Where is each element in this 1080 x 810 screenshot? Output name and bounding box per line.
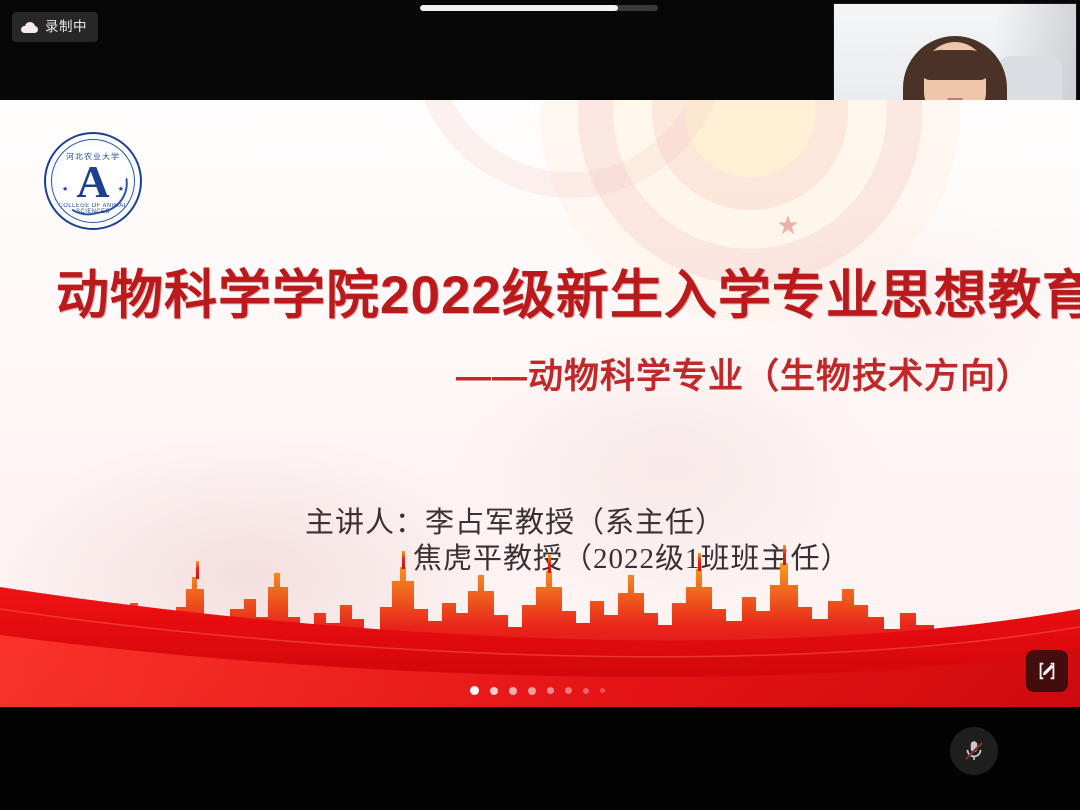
slide-title: 动物科学学院2022级新生入学专业思想教育	[56, 268, 1031, 324]
slide-dot[interactable]	[583, 688, 589, 694]
microphone-muted-icon	[961, 738, 987, 764]
cloud-icon	[21, 22, 38, 33]
star-icon: ★	[775, 212, 801, 238]
college-logo-inner: 河北农业大学 A ★ ★ COLLEGE OF ANIMAL SCIENCES	[51, 139, 135, 223]
presentation-slide[interactable]: ★ 河北农业大学 A ★ ★ COLLEGE OF ANIMAL SCIENCE…	[0, 100, 1080, 707]
meeting-bottom-bar	[0, 707, 1080, 810]
mute-toggle-button[interactable]	[950, 727, 998, 775]
person-eye-right	[977, 72, 986, 76]
screen-root: 录制中 王可	[0, 0, 1080, 810]
logo-star-right-icon: ★	[118, 186, 124, 193]
slide-footer-graphic	[0, 517, 1080, 707]
slide-dot[interactable]	[509, 687, 517, 695]
slide-dot[interactable]	[547, 687, 554, 694]
slide-dot[interactable]	[565, 687, 572, 694]
slide-dot[interactable]	[490, 687, 498, 695]
college-logo-name-en: COLLEGE OF ANIMAL SCIENCES	[54, 203, 132, 215]
annotate-button[interactable]	[1026, 650, 1068, 692]
playback-progress-fill	[420, 5, 618, 11]
slide-subtitle: ——动物科学专业（生物技术方向）	[456, 358, 1032, 397]
person-eye-left	[924, 72, 933, 76]
slide-dot[interactable]	[528, 687, 536, 695]
slide-progress-dots	[470, 686, 605, 695]
college-logo: 河北农业大学 A ★ ★ COLLEGE OF ANIMAL SCIENCES	[44, 132, 142, 230]
recording-label: 录制中	[45, 20, 87, 34]
recording-badge: 录制中	[12, 12, 98, 42]
slide-dot[interactable]	[600, 688, 605, 693]
pencil-annotate-icon	[1036, 660, 1058, 682]
college-logo-monogram: A	[76, 159, 109, 205]
red-wave-skyline	[0, 517, 1080, 707]
slide-dot[interactable]	[470, 686, 479, 695]
playback-progress-bar[interactable]	[420, 5, 658, 11]
logo-star-left-icon: ★	[62, 186, 68, 193]
